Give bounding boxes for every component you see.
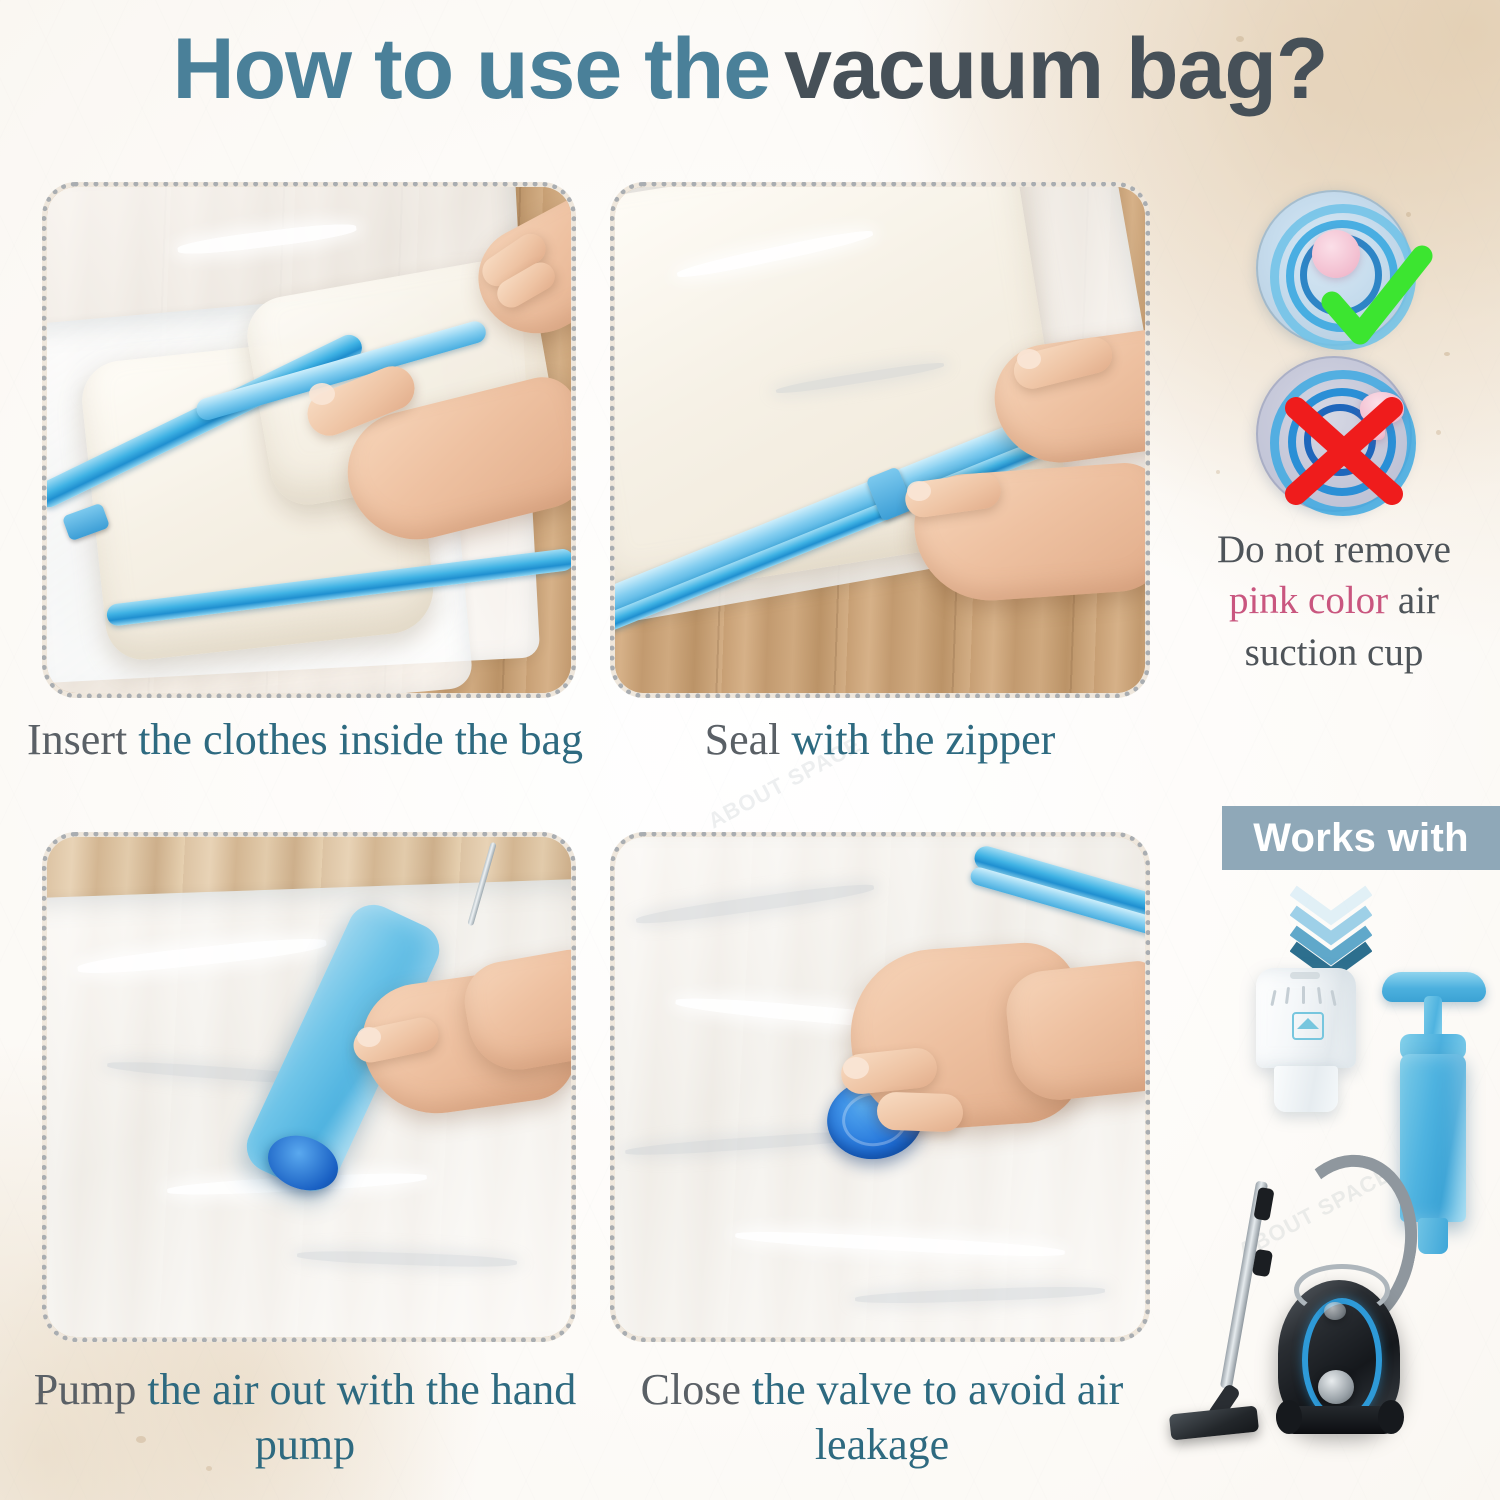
step-1-caption: Insert the clothes inside the bag	[22, 712, 588, 767]
fingernail	[907, 481, 931, 501]
forearm	[1003, 960, 1145, 1105]
paper-speck	[1216, 470, 1220, 474]
adapter-nozzle	[1274, 1066, 1338, 1112]
hose-port	[1324, 1302, 1346, 1320]
step-1-caption-lead: Insert	[27, 715, 127, 764]
finger	[876, 1092, 963, 1133]
fingernail	[1017, 349, 1041, 369]
wheel	[1378, 1400, 1404, 1434]
step-1-photo	[47, 187, 571, 693]
about-space-logo-icon	[1292, 1012, 1324, 1040]
step-3-caption-lead: Pump	[34, 1365, 137, 1414]
step-3-photo	[47, 837, 571, 1337]
step-2-caption-lead: Seal	[705, 715, 781, 764]
paper-speck	[1436, 430, 1441, 435]
wheel	[1276, 1400, 1302, 1434]
page-title-part2: vacuum bag?	[784, 21, 1327, 117]
warning-line3: suction cup	[1245, 631, 1424, 674]
control-knob	[1318, 1370, 1354, 1404]
step-2-photo-panel	[610, 182, 1150, 698]
page-title-part1: How to use the	[173, 21, 771, 117]
step-4-photo	[615, 837, 1145, 1337]
step-2-photo	[615, 187, 1145, 693]
top-opening	[1290, 972, 1320, 979]
pink-cup-warning-text: Do not remove pink color air suction cup	[1168, 524, 1500, 678]
electric-pump-adapter-product	[1252, 968, 1362, 1128]
red-cross-icon	[1278, 390, 1410, 512]
floor-head	[1169, 1405, 1259, 1440]
vacuum-cleaner-product	[1150, 1152, 1490, 1482]
step-1-caption-rest: the clothes inside the bag	[138, 715, 583, 764]
step-3-caption-rest: the air out with the hand pump	[147, 1365, 576, 1469]
chevron-down-stack-icon	[1290, 884, 1372, 972]
step-4-photo-panel	[610, 832, 1150, 1342]
valve-with-pink-cup-ok-icon	[1256, 190, 1412, 346]
fingernail	[843, 1057, 869, 1079]
works-with-badge: Works with	[1222, 806, 1500, 870]
fingernail	[357, 1027, 381, 1047]
step-3-photo-panel	[42, 832, 576, 1342]
fingernail	[309, 383, 335, 405]
warning-pink-emphasis: pink color	[1229, 579, 1388, 622]
step-1-photo-panel	[42, 182, 576, 698]
vent-slot	[1302, 986, 1305, 1004]
green-check-icon	[1318, 242, 1436, 350]
warning-after-pink: air	[1398, 579, 1439, 622]
works-with-label: Works with	[1253, 816, 1469, 861]
valve-without-pink-cup-not-allowed-icon	[1256, 356, 1412, 512]
step-4-caption-lead: Close	[641, 1365, 741, 1414]
step-4-caption: Close the valve to avoid air leakage	[612, 1362, 1152, 1472]
step-2-caption: Seal with the zipper	[620, 712, 1140, 767]
wand-collar	[1252, 1249, 1273, 1278]
step-2-caption-rest: with the zipper	[791, 715, 1055, 764]
step-4-caption-rest: the valve to avoid air leakage	[752, 1365, 1123, 1469]
page-title: How to use thevacuum bag?	[0, 24, 1500, 114]
warning-line1: Do not remove	[1217, 528, 1451, 571]
paper-speck	[1444, 352, 1450, 356]
infographic-page: ABOUT SPACE ABOUT SPACE ABOUT SPACE ABOU…	[0, 0, 1500, 1500]
step-3-caption: Pump the air out with the hand pump	[22, 1362, 588, 1472]
paper-speck	[1406, 212, 1411, 217]
